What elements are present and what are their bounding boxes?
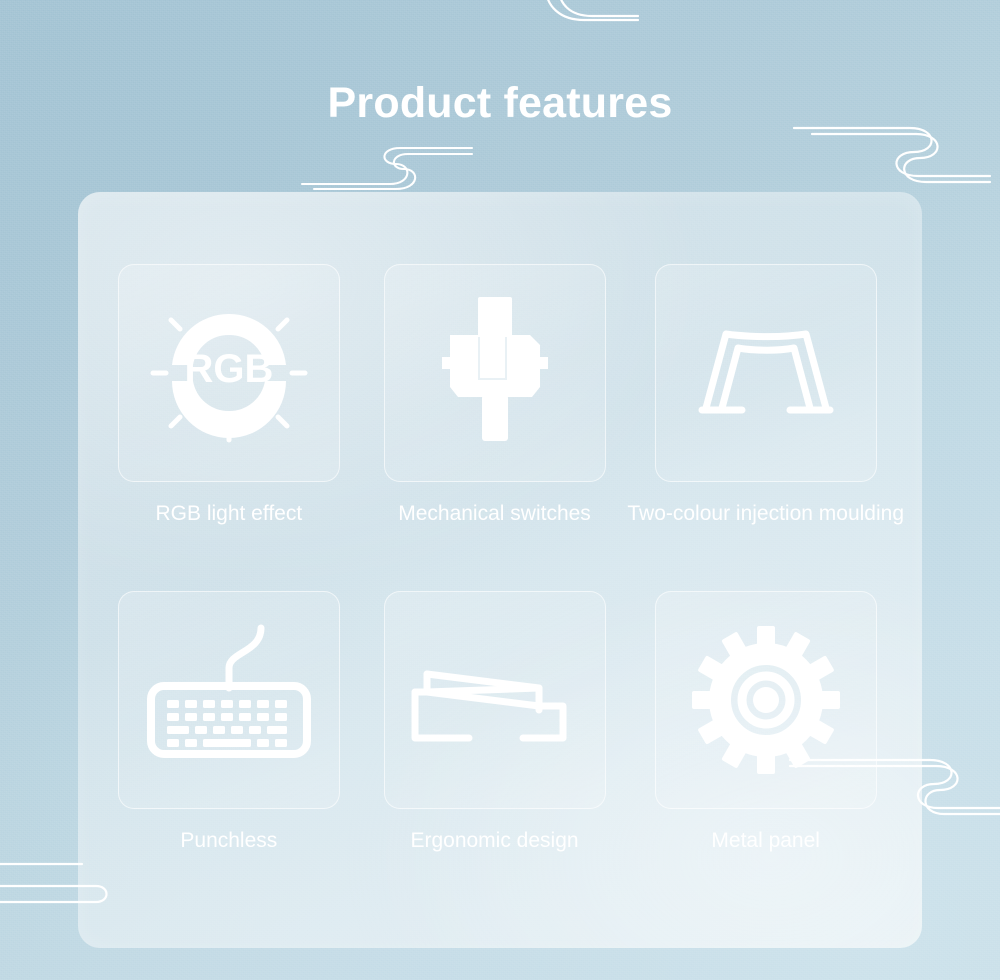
keycap-outline-icon [686, 318, 846, 428]
features-grid: RGB RGB light effect [78, 192, 922, 948]
feature-item-two-colour-injection[interactable]: Two-colour injection moulding [627, 264, 904, 581]
feature-label: Mechanical switches [398, 502, 591, 525]
feature-icon-tile: RGB [118, 264, 340, 482]
feature-label: RGB light effect [155, 502, 302, 525]
feature-label: Punchless [180, 829, 277, 852]
mechanical-switch-icon [420, 295, 570, 451]
feature-label: Ergonomic design [410, 829, 578, 852]
feature-icon-tile [655, 591, 877, 809]
gear-icon [691, 625, 841, 775]
keyboard-icon [141, 616, 317, 784]
page-title: Product features [0, 82, 1000, 125]
feature-item-ergonomic-design[interactable]: Ergonomic design [362, 591, 628, 908]
feature-icon-tile [118, 591, 340, 809]
feature-item-punchless[interactable]: Punchless [96, 591, 362, 908]
feature-icon-tile [384, 591, 606, 809]
feature-item-metal-panel[interactable]: Metal panel [627, 591, 904, 908]
feature-icon-tile [655, 264, 877, 482]
feature-item-mechanical-switches[interactable]: Mechanical switches [362, 264, 628, 581]
feature-label: Two-colour injection moulding [627, 502, 904, 525]
features-panel: RGB RGB light effect [78, 192, 922, 948]
rgb-badge-text: RGB [184, 347, 273, 391]
rgb-ring-icon: RGB [141, 290, 317, 456]
keyboard-profile-icon [411, 652, 579, 748]
feature-icon-tile [384, 264, 606, 482]
feature-item-rgb-light-effect[interactable]: RGB RGB light effect [96, 264, 362, 581]
feature-label: Metal panel [711, 829, 820, 852]
